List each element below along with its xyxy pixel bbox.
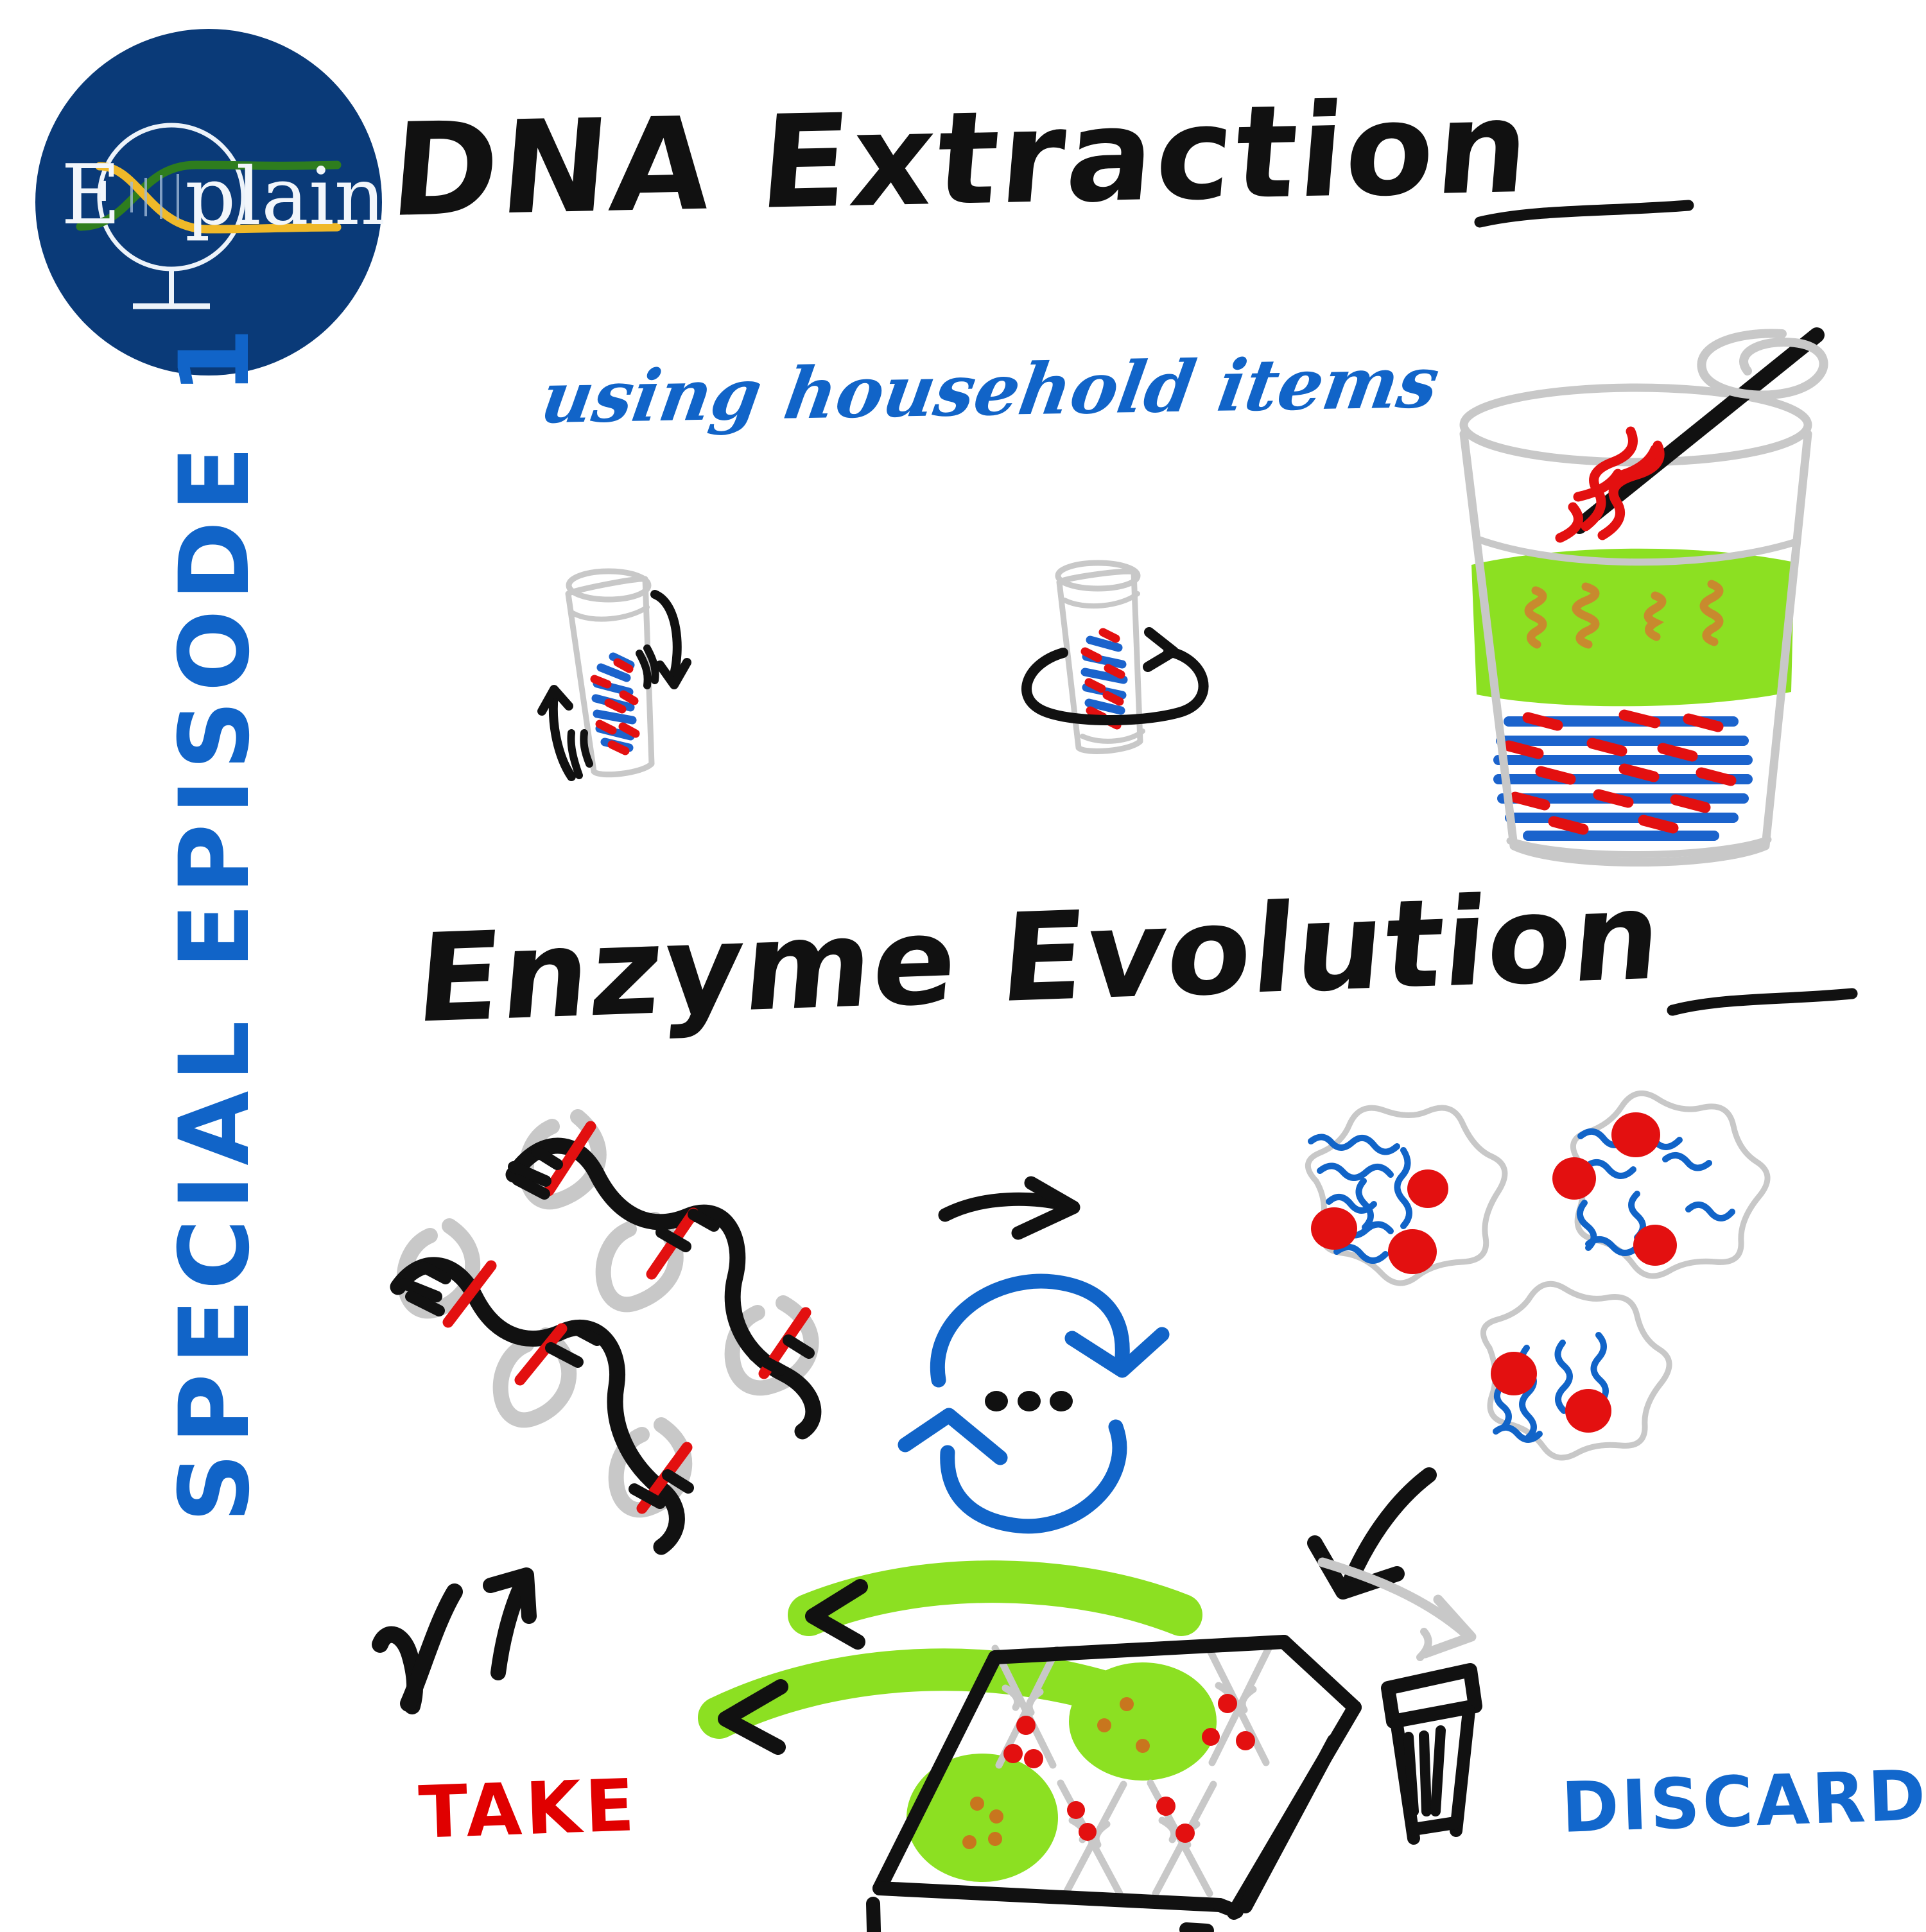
check-mark-icon [380, 1592, 455, 1706]
section-two-underline [1669, 982, 1862, 1033]
screening-plate [770, 1573, 1387, 1932]
dna-on-stick [1560, 431, 1660, 538]
positive-wells [907, 1662, 1217, 1882]
glass-with-separated-layers [1432, 315, 1894, 892]
spool-stick-icon [1560, 334, 1824, 538]
check-and-up-arrow [372, 1573, 642, 1791]
page-title: DNA Extraction [385, 73, 1537, 246]
page-subtitle: using household items [536, 341, 1445, 440]
dna-double-helix-pair [385, 1104, 886, 1579]
enzyme-protein-blobs [1278, 1091, 1804, 1502]
take-label: TAKE [417, 1764, 639, 1855]
enzyme-blob [1552, 1093, 1767, 1276]
episode-label: SPECIAL EPISODE 1 [159, 367, 271, 1522]
dna-helix [514, 1117, 813, 1431]
cell-cluster [1085, 632, 1123, 725]
cup-with-cells-stirring [989, 549, 1329, 818]
lysate-layer [1498, 715, 1748, 836]
logo-prefix: E [61, 155, 119, 237]
dna-helix [398, 1226, 688, 1547]
soap-layer [1471, 549, 1794, 707]
up-arrow-icon [490, 1575, 529, 1673]
title-underline [1477, 193, 1701, 244]
recycle-loop-icon [899, 1268, 1220, 1550]
cell-cluster [594, 657, 636, 751]
enzyme-blob [1483, 1284, 1669, 1458]
trash-bin-icon[interactable] [1374, 1630, 1644, 1887]
section-two-title: Enzyme Evolution [412, 865, 1668, 1050]
enzyme-blob [1308, 1108, 1505, 1283]
discard-label: DISCARD [1560, 1755, 1926, 1849]
ellipsis-dots-icon [985, 1391, 1073, 1411]
logo-suffix: plain [185, 157, 385, 237]
active-site [1552, 1112, 1677, 1266]
cup-with-cells-shaking [533, 552, 892, 822]
whiteboard-canvas: E plain DNA Extraction using household i… [0, 0, 1926, 1926]
